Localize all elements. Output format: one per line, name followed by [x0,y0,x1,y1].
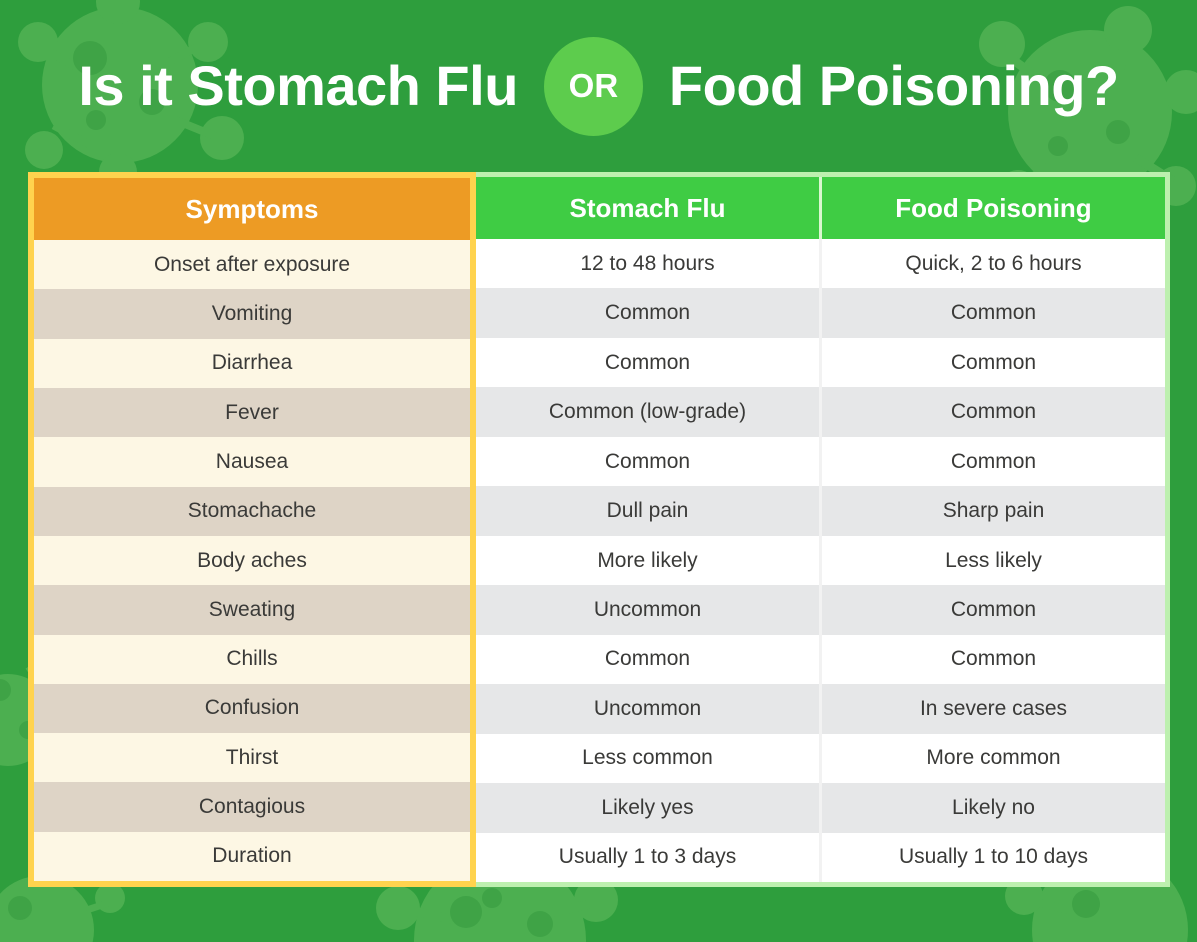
stomach-flu-value: Usually 1 to 3 days [476,833,819,882]
food-poisoning-value: Usually 1 to 10 days [819,833,1165,882]
symptom-label: Sweating [34,585,470,634]
symptom-label: Thirst [34,733,470,782]
food-poisoning-value: Common [819,437,1165,486]
table-row: Thirst [34,733,470,782]
table-row: Fever [34,388,470,437]
stomach-flu-value: Common [476,635,819,684]
conditions-columns-body: 12 to 48 hoursQuick, 2 to 6 hoursCommonC… [476,239,1165,882]
symptom-label: Duration [34,832,470,881]
symptoms-column-body: Onset after exposureVomitingDiarrheaFeve… [34,240,470,881]
table-row: CommonCommon [476,338,1165,387]
stomach-flu-value: Uncommon [476,585,819,634]
table-row: Diarrhea [34,339,470,388]
food-poisoning-value: Common [819,387,1165,436]
food-poisoning-value: In severe cases [819,684,1165,733]
table-row: Nausea [34,437,470,486]
food-poisoning-value: More common [819,734,1165,783]
food-poisoning-value: Quick, 2 to 6 hours [819,239,1165,288]
page-title: Is it Stomach Flu OR Food Poisoning? [78,37,1118,136]
page-header: Is it Stomach Flu OR Food Poisoning? [0,0,1197,172]
table-row: 12 to 48 hoursQuick, 2 to 6 hours [476,239,1165,288]
comparison-table: Symptoms Onset after exposureVomitingDia… [28,172,1170,887]
table-row: Dull painSharp pain [476,486,1165,535]
symptom-label: Body aches [34,536,470,585]
stomach-flu-value: Uncommon [476,684,819,733]
food-poisoning-value: Common [819,635,1165,684]
stomach-flu-value: Dull pain [476,486,819,535]
symptom-label: Onset after exposure [34,240,470,289]
table-row: Chills [34,635,470,684]
symptom-label: Vomiting [34,289,470,338]
table-row: More likelyLess likely [476,536,1165,585]
food-poisoning-value: Common [819,338,1165,387]
table-row: UncommonCommon [476,585,1165,634]
or-badge: OR [544,37,643,136]
stomach-flu-value: Less common [476,734,819,783]
food-poisoning-value: Common [819,288,1165,337]
food-poisoning-value: Sharp pain [819,486,1165,535]
table-row: CommonCommon [476,635,1165,684]
stomach-flu-value: Common [476,338,819,387]
symptom-label: Contagious [34,782,470,831]
table-row: CommonCommon [476,288,1165,337]
table-row: Less commonMore common [476,734,1165,783]
column-header-stomach-flu: Stomach Flu [476,177,819,239]
symptom-label: Chills [34,635,470,684]
table-row: Confusion [34,684,470,733]
table-row: Body aches [34,536,470,585]
table-row: Onset after exposure [34,240,470,289]
table-row: Stomachache [34,487,470,536]
table-row: Likely yesLikely no [476,783,1165,832]
table-row: Contagious [34,782,470,831]
column-header-row: Stomach Flu Food Poisoning [476,177,1165,239]
column-header-food-poisoning: Food Poisoning [819,177,1165,239]
title-left-text: Is it Stomach Flu [78,58,518,114]
stomach-flu-value: Common [476,288,819,337]
stomach-flu-value: 12 to 48 hours [476,239,819,288]
table-row: Duration [34,832,470,881]
symptoms-column: Symptoms Onset after exposureVomitingDia… [28,172,476,887]
table-row: CommonCommon [476,437,1165,486]
table-row: Vomiting [34,289,470,338]
food-poisoning-value: Common [819,585,1165,634]
symptom-label: Confusion [34,684,470,733]
table-row: Sweating [34,585,470,634]
symptom-label: Fever [34,388,470,437]
stomach-flu-value: Likely yes [476,783,819,832]
table-row: Usually 1 to 3 daysUsually 1 to 10 days [476,833,1165,882]
stomach-flu-value: Common [476,437,819,486]
food-poisoning-value: Less likely [819,536,1165,585]
stomach-flu-value: More likely [476,536,819,585]
table-row: Common (low-grade)Common [476,387,1165,436]
title-right-text: Food Poisoning? [669,58,1119,114]
table-row: UncommonIn severe cases [476,684,1165,733]
conditions-columns: Stomach Flu Food Poisoning 12 to 48 hour… [476,172,1170,887]
food-poisoning-value: Likely no [819,783,1165,832]
column-header-symptoms: Symptoms [34,178,470,240]
stomach-flu-value: Common (low-grade) [476,387,819,436]
symptom-label: Diarrhea [34,339,470,388]
symptom-label: Nausea [34,437,470,486]
symptom-label: Stomachache [34,487,470,536]
